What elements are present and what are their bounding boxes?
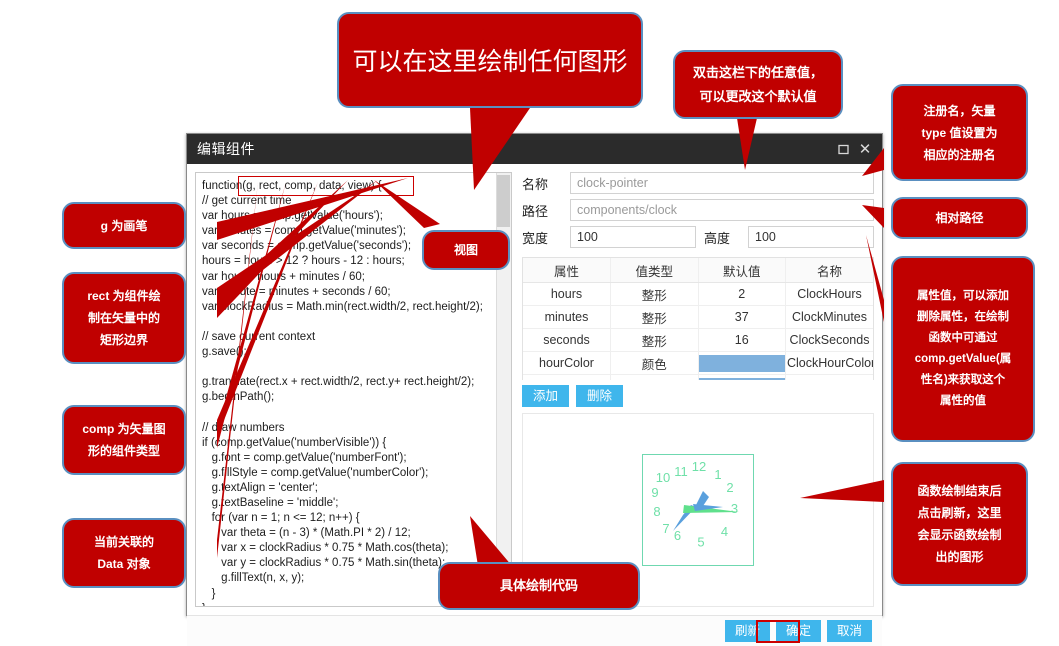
name-row: 名称 clock-pointer (522, 172, 874, 194)
name-label: 名称 (522, 174, 570, 193)
svg-text:2: 2 (726, 480, 733, 495)
callout-rect-bounds: rect 为组件绘 制在矢量中的 矩形边界 (62, 272, 186, 364)
callout-line: 相应的注册名 (923, 144, 995, 166)
close-icon[interactable]: ✕ (854, 138, 876, 160)
cell-name: ClockSeconds (786, 329, 874, 352)
color-swatch (699, 378, 786, 381)
callout-line: 形的组件类型 (88, 440, 160, 462)
callout-line: 函数中可通过 (929, 328, 998, 349)
th-name: 名称 (786, 258, 874, 283)
callout-line: 删除属性，在绘制 (917, 307, 1009, 328)
table-header-row: 属性 值类型 默认值 名称 (523, 258, 873, 283)
cell-name: ClockMinutes (786, 306, 874, 329)
path-input[interactable]: components/clock (570, 199, 874, 221)
cell-property: hours (523, 283, 611, 306)
callout-line: 可以在这里绘制任何图形 (352, 42, 627, 78)
properties-pane: 名称 clock-pointer 路径 components/clock 宽度 … (518, 164, 882, 615)
height-label: 高度 (696, 228, 748, 247)
callout-line: 当前关联的 (94, 531, 154, 553)
svg-text:10: 10 (656, 470, 670, 485)
svg-text:11: 11 (674, 464, 688, 479)
cell-name: ClockHourColor (786, 352, 874, 375)
svg-text:6: 6 (674, 528, 681, 543)
callout-comp-type: comp 为矢量图 形的组件类型 (62, 405, 186, 475)
cell-default-swatch[interactable] (698, 352, 786, 375)
callout-line: 视图 (454, 239, 478, 261)
callout-view: 视图 (422, 230, 510, 270)
cell-type: 整形 (611, 306, 699, 329)
svg-text:4: 4 (721, 524, 728, 539)
callout-double-click: 双击这栏下的任意值， 可以更改这个默认值 (673, 50, 843, 119)
svg-text:12: 12 (692, 459, 706, 474)
svg-text:9: 9 (651, 485, 658, 500)
callout-line: 注册名，矢量 (923, 100, 995, 122)
cell-property: hourColor (523, 352, 611, 375)
callout-line: type 值设置为 (921, 122, 997, 144)
callout-line: 会显示函数绘制 (917, 524, 1001, 546)
path-row: 路径 components/clock (522, 199, 874, 221)
callout-data-object: 当前关联的 Data 对象 (62, 518, 186, 588)
svg-text:3: 3 (731, 501, 738, 516)
table-actions: 添加 删除 (522, 385, 874, 407)
cell-type: 颜色 (611, 352, 699, 375)
callout-line: 性名)来获取这个 (921, 370, 1005, 391)
callout-relative-path: 相对路径 (891, 197, 1028, 239)
refresh-button[interactable]: 刷新 (725, 620, 770, 642)
callout-property-value: 属性值，可以添加 删除属性，在绘制 函数中可通过 comp.getValue(属… (891, 256, 1035, 442)
callout-line: comp.getValue(属 (915, 349, 1012, 370)
callout-line: 制在矢量中的 (88, 307, 160, 329)
callout-refresh-note: 函数绘制结束后 点击刷新，这里 会显示函数绘制 出的图形 (891, 462, 1028, 586)
cell-type: 颜色 (611, 375, 699, 381)
cell-type: 整形 (611, 329, 699, 352)
callout-line: g 为画笔 (101, 215, 148, 237)
width-label: 宽度 (522, 228, 570, 247)
table-row[interactable]: seconds 整形 16 ClockSeconds (523, 329, 873, 352)
cell-property: minuteColor (523, 375, 611, 381)
th-property: 属性 (523, 258, 611, 283)
confirm-button[interactable]: 确定 (776, 620, 821, 642)
callout-draw-anything: 可以在这里绘制任何图形 (337, 12, 643, 108)
callout-g-pen: g 为画笔 (62, 202, 186, 249)
callout-line: 点击刷新，这里 (917, 502, 1001, 524)
cell-default[interactable]: 37 (698, 306, 786, 329)
callout-line: 矩形边界 (100, 329, 148, 351)
callout-draw-code: 具体绘制代码 (438, 562, 640, 610)
callout-line: Data 对象 (97, 553, 150, 575)
callout-line: 可以更改这个默认值 (699, 85, 816, 109)
dialog-footer: 刷新 确定 取消 (187, 615, 882, 646)
properties-table-wrap: 属性 值类型 默认值 名称 hours 整形 2 ClockHo (522, 257, 874, 380)
callout-line: 双击这栏下的任意值， (693, 61, 823, 85)
color-swatch (699, 355, 786, 372)
maximize-icon[interactable] (832, 138, 854, 160)
callout-line: 相对路径 (935, 207, 983, 229)
width-input[interactable]: 100 (570, 226, 696, 248)
callout-line: rect 为组件绘 (87, 285, 160, 307)
dialog-body: function(g, rect, comp, data, view) { //… (187, 164, 882, 615)
table-row[interactable]: minutes 整形 37 ClockMinutes (523, 306, 873, 329)
path-label: 路径 (522, 201, 570, 220)
size-row: 宽度 100 高度 100 (522, 226, 874, 248)
callout-line: 属性值，可以添加 (917, 286, 1009, 307)
callout-line: 具体绘制代码 (500, 574, 578, 598)
height-input[interactable]: 100 (748, 226, 874, 248)
properties-table: 属性 值类型 默认值 名称 hours 整形 2 ClockHo (523, 258, 873, 380)
name-input[interactable]: clock-pointer (570, 172, 874, 194)
cancel-button[interactable]: 取消 (827, 620, 872, 642)
table-row[interactable]: minuteColor 颜色 ClockMinuteColo (523, 375, 873, 381)
dialog-titlebar: 编辑组件 ✕ (187, 134, 882, 164)
delete-button[interactable]: 删除 (576, 385, 623, 407)
th-type: 值类型 (611, 258, 699, 283)
callout-line: 函数绘制结束后 (917, 480, 1001, 502)
th-default: 默认值 (698, 258, 786, 283)
cell-property: seconds (523, 329, 611, 352)
cell-default[interactable]: 16 (698, 329, 786, 352)
screenshot-stage: 编辑组件 ✕ function(g, rect, comp, data, vie… (0, 0, 1059, 646)
callout-line: 出的图形 (935, 546, 983, 568)
function-signature: function(g, rect, comp, data, view) { (202, 179, 382, 194)
dialog-title: 编辑组件 (197, 139, 255, 159)
clock-svg: 3 4 5 6 7 8 9 10 11 12 1 (643, 455, 750, 562)
callout-line: comp 为矢量图 (82, 418, 165, 440)
table-row[interactable]: hours 整形 2 ClockHours (523, 283, 873, 306)
cell-type: 整形 (611, 283, 699, 306)
svg-text:8: 8 (653, 504, 660, 519)
cell-name: ClockMinuteColo (786, 375, 874, 381)
callout-register-name: 注册名，矢量 type 值设置为 相应的注册名 (891, 84, 1028, 181)
add-button[interactable]: 添加 (522, 385, 569, 407)
clock-preview: 3 4 5 6 7 8 9 10 11 12 1 (642, 454, 754, 566)
svg-text:7: 7 (662, 521, 669, 536)
table-row[interactable]: hourColor 颜色 ClockHourColor (523, 352, 873, 375)
cell-default[interactable]: 2 (698, 283, 786, 306)
svg-text:5: 5 (697, 535, 704, 550)
edit-component-dialog: 编辑组件 ✕ function(g, rect, comp, data, vie… (186, 133, 883, 616)
cell-name: ClockHours (786, 283, 874, 306)
cell-default-swatch[interactable] (698, 375, 786, 381)
svg-text:1: 1 (714, 467, 721, 482)
scrollbar-thumb[interactable] (497, 175, 510, 227)
cell-property: minutes (523, 306, 611, 329)
callout-line: 属性的值 (940, 391, 986, 412)
